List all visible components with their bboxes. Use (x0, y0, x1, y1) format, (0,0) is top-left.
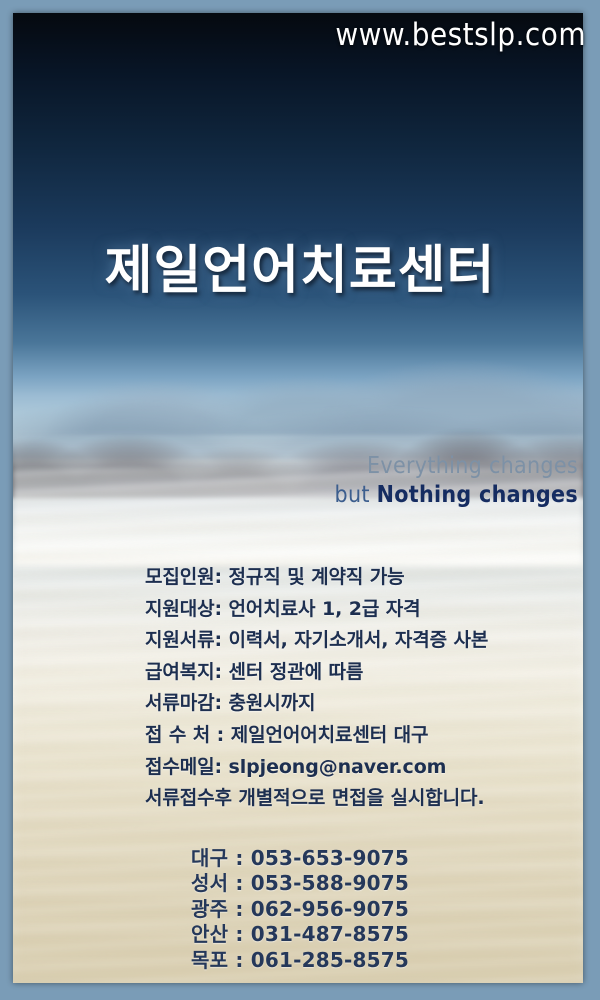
detail-row: 지원대상: 언어치료사 1, 2급 자격 (145, 594, 488, 626)
detail-row: 급여복지: 센터 정관에 따름 (145, 657, 488, 689)
detail-row: 모집인원: 정규직 및 계약직 가능 (145, 562, 488, 594)
recruitment-details: 모집인원: 정규직 및 계약직 가능 지원대상: 언어치료사 1, 2급 자격 … (145, 562, 488, 815)
detail-row-email[interactable]: 접수메일: slpjeong@naver.com (145, 752, 488, 784)
tagline-line-2-emphasis: Nothing changes (377, 482, 578, 508)
detail-row: 서류마감: 충원시까지 (145, 688, 488, 720)
tagline-line-2-lead: but (335, 482, 377, 508)
phone-row[interactable]: 광주 : 062-956-9075 (0, 897, 600, 922)
tagline-block: Everything changes but Nothing changes (335, 452, 579, 510)
phone-row[interactable]: 목포 : 061-285-8575 (0, 948, 600, 973)
phone-row[interactable]: 성서 : 053-588-9075 (0, 871, 600, 896)
tagline-line-1: Everything changes (335, 452, 579, 481)
detail-row: 서류접수후 개별적으로 면접을 실시합니다. (145, 783, 488, 815)
website-url[interactable]: www.bestslp.com (335, 17, 586, 53)
phone-row[interactable]: 대구 : 053-653-9075 (0, 846, 600, 871)
poster-content: www.bestslp.com 제일언어치료센터 Everything chan… (0, 0, 600, 1000)
phone-row[interactable]: 안산 : 031-487-8575 (0, 922, 600, 947)
detail-row: 접 수 처 : 제일언어어치료센터 대구 (145, 720, 488, 752)
center-name-title: 제일언어치료센터 (0, 228, 600, 303)
tagline-line-2: but Nothing changes (335, 481, 579, 510)
poster-canvas: www.bestslp.com 제일언어치료센터 Everything chan… (0, 0, 600, 1000)
detail-row: 지원서류: 이력서, 자기소개서, 자격증 사본 (145, 625, 488, 657)
branch-phone-list: 대구 : 053-653-9075 성서 : 053-588-9075 광주 :… (0, 846, 600, 973)
